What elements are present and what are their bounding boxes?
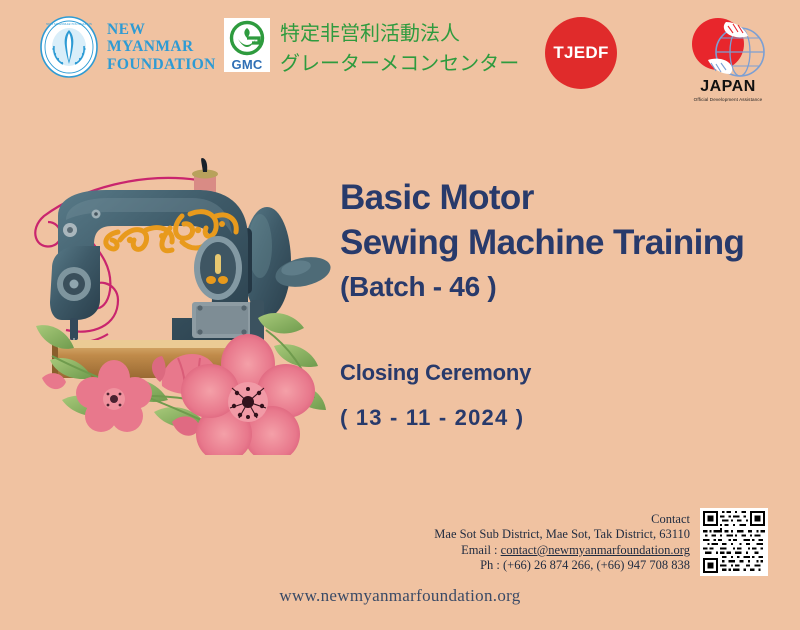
event-info: Closing Ceremony ( 13 - 11 - 2024 ) — [340, 357, 760, 435]
myanmar-map-laurel-seal-icon: NEW MYANMAR FOUNDATION — [40, 16, 98, 78]
japan-subtitle: Official Development Assistance — [682, 97, 774, 102]
logo-gmc: GMC 特定非営利活動法人 グレーターメコンセンター — [224, 18, 519, 78]
gmc-leaf-hands-circle-icon: GMC — [224, 18, 270, 72]
japan-oda-hands-globe-icon — [682, 14, 774, 82]
vintage-sewing-machine-with-flowers-illustration — [22, 150, 338, 455]
contact-heading: Contact — [290, 512, 690, 527]
title-line-2: Sewing Machine Training — [340, 220, 790, 266]
poster-canvas: NEW MYANMAR FOUNDATION NEW MYANMAR FOUND… — [0, 0, 800, 630]
gmc-label: GMC — [232, 57, 263, 72]
logo-japan-oda: JAPAN Official Development Assistance — [682, 14, 774, 106]
contact-email-link[interactable]: contact@newmyanmarfoundation.org — [501, 543, 690, 557]
contact-address: Mae Sot Sub District, Mae Sot, Tak Distr… — [290, 527, 690, 542]
gmc-japanese-text: 特定非営利活動法人 グレーターメコンセンター — [280, 18, 519, 78]
contact-email-label: Email : — [461, 543, 501, 557]
nmf-line2: MYANMAR — [107, 38, 216, 56]
logo-nmf-text: NEW MYANMAR FOUNDATION — [107, 21, 216, 74]
logo-new-myanmar-foundation: NEW MYANMAR FOUNDATION NEW MYANMAR FOUND… — [40, 16, 216, 78]
svg-text:NEW MYANMAR FOUNDATION: NEW MYANMAR FOUNDATION — [46, 22, 93, 26]
event-name: Closing Ceremony — [340, 357, 760, 389]
title-line-1: Basic Motor — [340, 176, 790, 220]
gmc-jp-line2: グレーターメコンセンター — [280, 48, 519, 78]
nmf-line1: NEW — [107, 21, 216, 39]
tjedf-label: TJEDF — [553, 43, 608, 63]
qr-code[interactable] — [700, 508, 768, 576]
poster-title: Basic Motor Sewing Machine Training (Bat… — [340, 176, 790, 308]
logo-bar: NEW MYANMAR FOUNDATION NEW MYANMAR FOUND… — [0, 0, 800, 115]
logo-tjedf: TJEDF — [545, 17, 617, 89]
contact-email-line: Email : contact@newmyanmarfoundation.org — [290, 543, 690, 558]
nmf-line3: FOUNDATION — [107, 56, 216, 74]
event-date: ( 13 - 11 - 2024 ) — [340, 401, 760, 435]
gmc-jp-line1: 特定非営利活動法人 — [280, 18, 519, 48]
website-url[interactable]: www.newmyanmarfoundation.org — [0, 586, 800, 606]
title-line-3-batch: (Batch - 46 ) — [340, 266, 790, 308]
contact-phone: Ph : (+66) 26 874 266, (+66) 947 708 838 — [290, 558, 690, 573]
contact-block: Contact Mae Sot Sub District, Mae Sot, T… — [290, 512, 690, 574]
